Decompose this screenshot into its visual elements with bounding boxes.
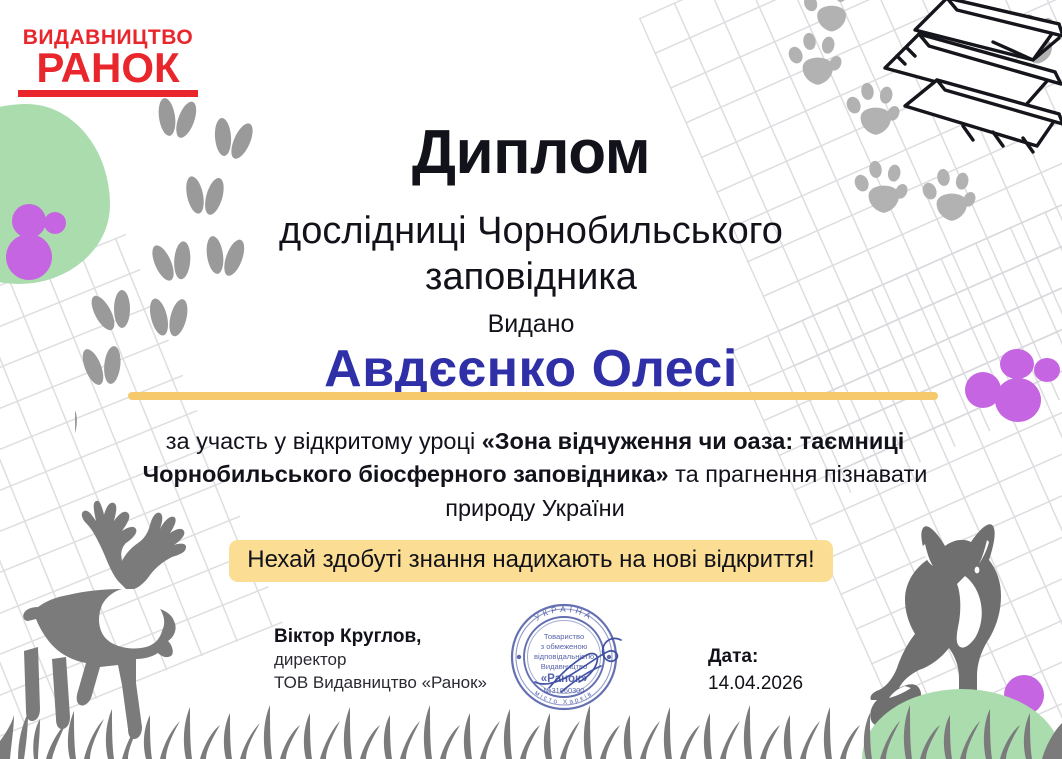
official-stamp-icon: УКРАЇНА місто Харків Товариство з обмеже… (503, 596, 625, 718)
signatory-role: директор (274, 649, 487, 672)
certificate-page: ВИДАВНИЦТВО РАНОК Диплом дослідниці Чорн… (0, 0, 1062, 759)
svg-text:УКРАЇНА: УКРАЇНА (532, 604, 595, 623)
wish-banner: Нехай здобуті знання надихають на нові в… (229, 540, 832, 582)
stamp-line-1: Товариство (544, 632, 584, 641)
recipient-name: Авдєєнко Олесі (0, 339, 1062, 399)
wish-banner-wrap: Нехай здобуті знання надихають на нові в… (0, 540, 1062, 582)
date-block: Дата: 14.04.2026 (708, 644, 803, 697)
stamp-country-text: УКРАЇНА (532, 604, 595, 623)
signatory-organization: ТОВ Видавництво «Ранок» (274, 672, 487, 695)
signatory-name-comma: , (416, 626, 421, 647)
issued-label: Видано (0, 310, 1062, 339)
certificate-subtitle: дослідниці Чорнобильського заповідника (180, 208, 882, 301)
name-divider-rule (128, 392, 938, 400)
date-label: Дата: (708, 644, 803, 671)
achievement-description: за участь у відкритому уроці «Зона відчу… (120, 425, 950, 525)
signatory-name: Віктор Круглов (274, 626, 416, 647)
official-stamp: УКРАЇНА місто Харків Товариство з обмеже… (503, 596, 625, 718)
description-prefix: за участь у відкритому уроці (166, 428, 482, 454)
signatory-name-row: Віктор Круглов, (274, 624, 487, 649)
page-title: Диплом (0, 120, 1062, 185)
date-value: 14.04.2026 (708, 671, 803, 698)
signatory-block: Віктор Круглов, директор ТОВ Видавництво… (274, 624, 487, 694)
stamp-line-2: з обмеженою (541, 642, 588, 651)
